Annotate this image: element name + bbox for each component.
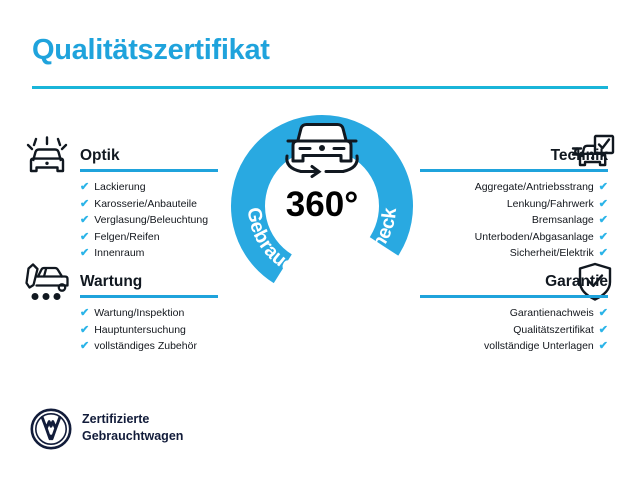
360-check-badge: Gebrauchtwagen-Check 360° [228, 112, 416, 300]
check-icon: ✔ [599, 179, 608, 196]
check-icon: ✔ [599, 322, 608, 339]
check-icon: ✔ [599, 338, 608, 355]
check-icon: ✔ [599, 229, 608, 246]
section-optik-title: Optik [80, 146, 218, 166]
check-icon: ✔ [80, 338, 89, 355]
check-icon: ✔ [80, 305, 89, 322]
footer-brand-text: Zertifizierte Gebrauchtwagen [82, 411, 183, 445]
list-item: ✔vollständiges Zubehör [80, 338, 218, 355]
section-optik-header: Optik [80, 146, 218, 172]
list-item-label: vollständige Unterlagen [484, 338, 594, 355]
check-icon: ✔ [80, 196, 89, 213]
list-item: Garantienachweis✔ [420, 305, 608, 322]
list-item-label: Lenkung/Fahrwerk [507, 196, 594, 213]
check-icon: ✔ [80, 322, 89, 339]
list-item-label: vollständiges Zubehör [94, 338, 197, 355]
list-item: ✔Verglasung/Beleuchtung [80, 212, 218, 229]
list-item: Sicherheit/Elektrik✔ [420, 245, 608, 262]
check-icon: ✔ [599, 196, 608, 213]
section-optik-items: ✔Lackierung ✔Karosserie/Anbauteile ✔Verg… [80, 179, 218, 262]
footer-line-2: Gebrauchtwagen [82, 428, 183, 445]
section-technik-items: Aggregate/Antriebsstrang✔ Lenkung/Fahrwe… [420, 179, 608, 262]
list-item-label: Wartung/Inspektion [94, 305, 184, 322]
section-optik: Optik ✔Lackierung ✔Karosserie/Anbauteile… [80, 146, 218, 262]
list-item: Bremsanlage✔ [420, 212, 608, 229]
list-item-label: Felgen/Reifen [94, 229, 159, 246]
list-item-label: Karosserie/Anbauteile [94, 196, 197, 213]
check-icon: ✔ [599, 212, 608, 229]
section-technik: Technik Aggregate/Antriebsstrang✔ Lenkun… [420, 146, 608, 262]
car-shine-icon [24, 136, 70, 178]
list-item: vollständige Unterlagen✔ [420, 338, 608, 355]
check-icon: ✔ [80, 179, 89, 196]
list-item: Unterboden/Abgasanlage✔ [420, 229, 608, 246]
list-item: ✔Karosserie/Anbauteile [80, 196, 218, 213]
section-garantie: Garantie Garantienachweis✔ Qualitätszert… [420, 272, 608, 355]
list-item-label: Innenraum [94, 245, 144, 262]
section-garantie-items: Garantienachweis✔ Qualitätszertifikat✔ v… [420, 305, 608, 355]
check-icon: ✔ [599, 305, 608, 322]
list-item-label: Sicherheit/Elektrik [510, 245, 594, 262]
list-item-label: Qualitätszertifikat [513, 322, 594, 339]
section-optik-divider [80, 169, 218, 172]
check-icon: ✔ [599, 245, 608, 262]
section-wartung-divider [80, 295, 218, 298]
check-icon: ✔ [80, 245, 89, 262]
section-garantie-divider [420, 295, 608, 298]
list-item-label: Lackierung [94, 179, 145, 196]
list-item: ✔Innenraum [80, 245, 218, 262]
list-item-label: Unterboden/Abgasanlage [475, 229, 594, 246]
section-wartung-items: ✔Wartung/Inspektion ✔Hauptuntersuchung ✔… [80, 305, 218, 355]
section-garantie-header: Garantie [420, 272, 608, 298]
badge-center-label: 360° [286, 185, 358, 224]
list-item-label: Verglasung/Beleuchtung [94, 212, 208, 229]
section-technik-header: Technik [420, 146, 608, 172]
section-technik-divider [420, 169, 608, 172]
vw-logo [30, 408, 72, 450]
list-item: ✔Wartung/Inspektion [80, 305, 218, 322]
list-item-label: Garantienachweis [510, 305, 594, 322]
list-item-label: Hauptuntersuchung [94, 322, 186, 339]
list-item: Lenkung/Fahrwerk✔ [420, 196, 608, 213]
section-wartung-title: Wartung [80, 272, 218, 292]
list-item: ✔Felgen/Reifen [80, 229, 218, 246]
page-title: Qualitätszertifikat [32, 34, 270, 67]
list-item: Aggregate/Antriebsstrang✔ [420, 179, 608, 196]
check-icon: ✔ [80, 212, 89, 229]
list-item: Qualitätszertifikat✔ [420, 322, 608, 339]
section-wartung-header: Wartung [80, 272, 218, 298]
wrench-car-icon [24, 262, 70, 304]
section-wartung: Wartung ✔Wartung/Inspektion ✔Hauptunters… [80, 272, 218, 355]
list-item: ✔Hauptuntersuchung [80, 322, 218, 339]
list-item: ✔Lackierung [80, 179, 218, 196]
list-item-label: Bremsanlage [532, 212, 594, 229]
section-technik-title: Technik [420, 146, 608, 166]
quality-certificate-page: Qualitätszertifikat Optik ✔Lackierung [0, 0, 640, 480]
check-icon: ✔ [80, 229, 89, 246]
list-item-label: Aggregate/Antriebsstrang [475, 179, 594, 196]
footer-line-1: Zertifizierte [82, 411, 183, 428]
title-divider [32, 86, 608, 89]
section-garantie-title: Garantie [420, 272, 608, 292]
